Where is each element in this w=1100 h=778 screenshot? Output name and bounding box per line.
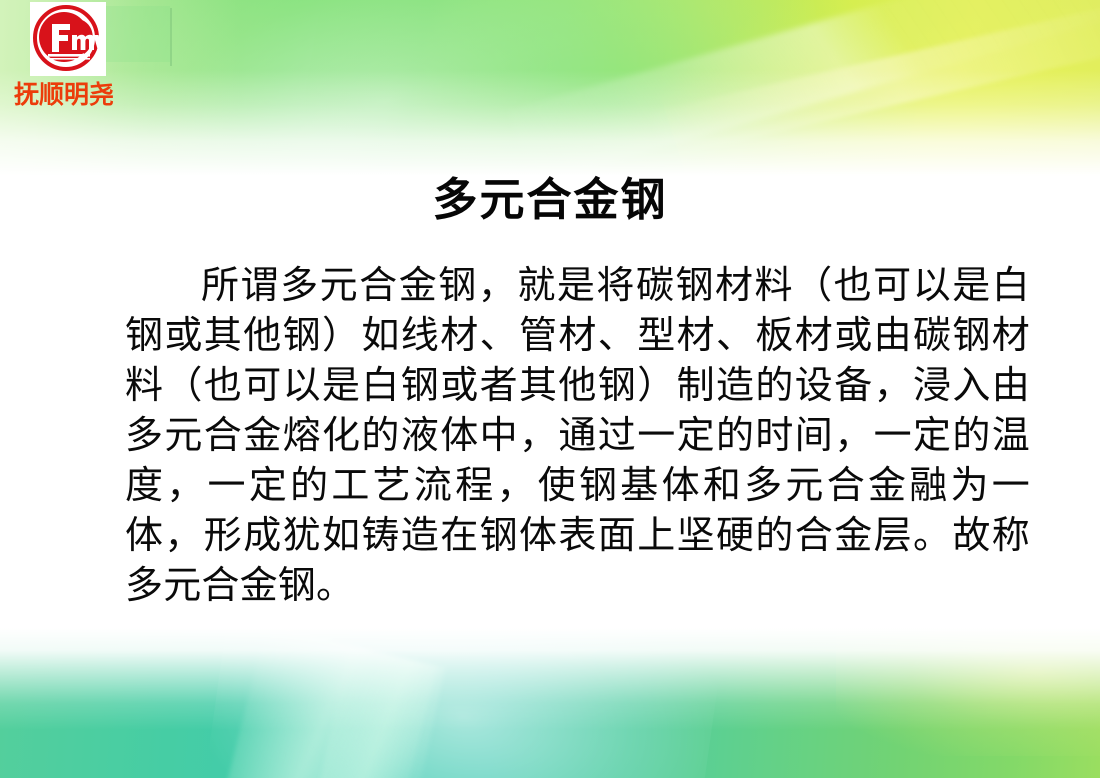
- slide-title: 多元合金钢: [0, 172, 1100, 228]
- fmy-logo-icon: [30, 2, 106, 76]
- top-decorative-banner: [0, 0, 1100, 185]
- company-logo: [30, 2, 106, 76]
- top-banner-panel-artifact: [105, 6, 170, 62]
- bottom-decorative-banner: [0, 628, 1100, 778]
- slide-content-area: 多元合金钢 所谓多元合金钢，就是将碳钢材料（也可以是白钢或其他钢）如线材、管材、…: [0, 160, 1100, 640]
- slide-body-paragraph: 所谓多元合金钢，就是将碳钢材料（也可以是白钢或其他钢）如线材、管材、型材、板材或…: [125, 260, 1030, 610]
- top-banner-vertical-line-artifact: [170, 8, 172, 66]
- presentation-slide: 抚顺明尧 多元合金钢 所谓多元合金钢，就是将碳钢材料（也可以是白钢或其他钢）如线…: [0, 0, 1100, 778]
- company-name-label: 抚顺明尧: [14, 80, 134, 110]
- bottom-banner-white-fade: [0, 628, 1100, 730]
